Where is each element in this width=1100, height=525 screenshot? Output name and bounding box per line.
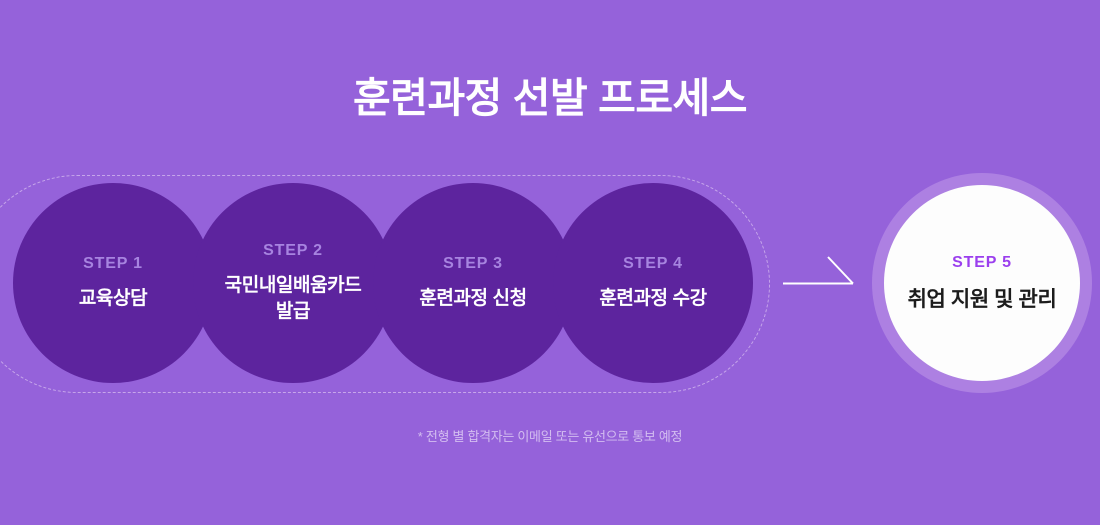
step-5-kicker: STEP 5 xyxy=(952,254,1012,272)
step-4-kicker: STEP 4 xyxy=(623,255,683,273)
step-1-kicker: STEP 1 xyxy=(83,255,143,273)
process-step-3[interactable]: STEP 3 훈련과정 신청 xyxy=(373,183,573,383)
step-2-label: 국민내일배움카드 발급 xyxy=(225,273,362,324)
process-step-4[interactable]: STEP 4 훈련과정 수강 xyxy=(553,183,753,383)
step-1-label: 교육상담 xyxy=(79,286,147,312)
step-5-label: 취업 지원 및 관리 xyxy=(908,283,1057,313)
step-3-label: 훈련과정 신청 xyxy=(419,286,526,312)
arrow-right-icon xyxy=(782,252,858,292)
step-2-kicker: STEP 2 xyxy=(263,242,323,260)
process-step-2[interactable]: STEP 2 국민내일배움카드 발급 xyxy=(193,183,393,383)
process-step-5[interactable]: STEP 5 취업 지원 및 관리 xyxy=(884,185,1080,381)
process-diagram-canvas: 훈련과정 선발 프로세스 STEP 1 교육상담 STEP 2 국민내일배움카드… xyxy=(0,0,1100,525)
step-4-label: 훈련과정 수강 xyxy=(599,286,706,312)
process-step-1[interactable]: STEP 1 교육상담 xyxy=(13,183,213,383)
footnote-text: * 전형 별 합격자는 이메일 또는 유선으로 통보 예정 xyxy=(0,426,1100,445)
step-3-kicker: STEP 3 xyxy=(443,255,503,273)
page-title: 훈련과정 선발 프로세스 xyxy=(0,76,1100,121)
